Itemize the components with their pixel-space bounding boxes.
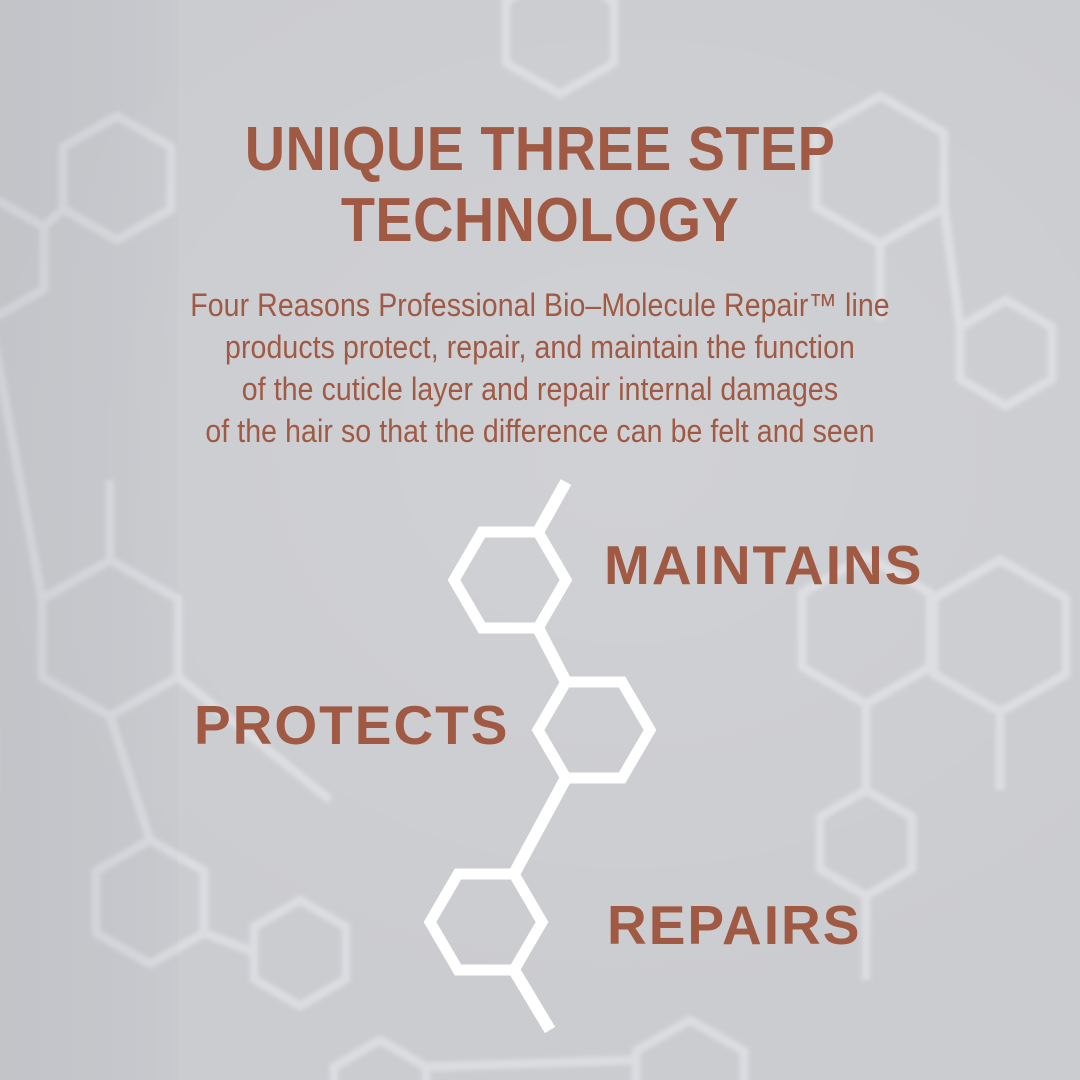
hexagon-top: [454, 532, 566, 628]
poster-canvas: UNIQUE THREE STEP TECHNOLOGY Four Reason…: [0, 0, 1080, 1080]
bond-bottom-stub: [514, 970, 550, 1030]
bond-top-stub: [538, 482, 566, 532]
bond-middle-bottom: [514, 778, 566, 874]
bond-top-middle: [538, 628, 566, 682]
hexagon-middle: [538, 682, 650, 778]
hexagon-bottom: [430, 874, 542, 970]
step-label-protects: PROTECTS: [194, 698, 509, 753]
step-label-repairs: REPAIRS: [607, 898, 861, 953]
step-label-maintains: MAINTAINS: [604, 538, 923, 593]
